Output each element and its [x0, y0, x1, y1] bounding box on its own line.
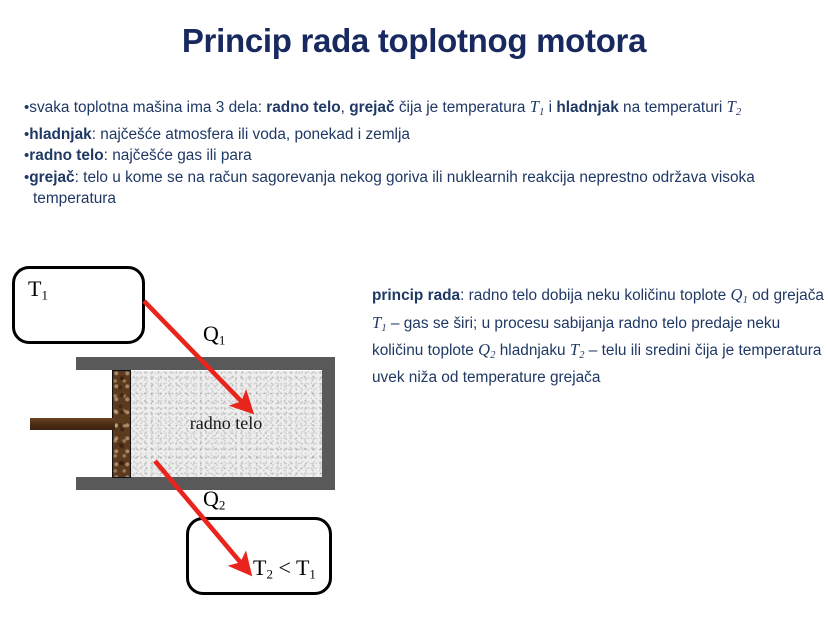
emphasis-text: radno telo	[29, 147, 103, 164]
heat-in-subscript: 1	[219, 333, 226, 348]
math-variable: Q2	[478, 340, 495, 359]
list-item: •grejač: telo u kome se na račun sagorev…	[24, 167, 808, 210]
list-item: •svaka toplotna mašina ima 3 dela: radno…	[24, 96, 808, 124]
emphasis-text: grejač	[29, 169, 74, 186]
hot-reservoir-subscript-ref: 1	[309, 567, 316, 582]
list-item-text: radno telo: najčešće gas ili para	[29, 147, 251, 164]
gas-label: radno telo	[130, 413, 322, 434]
cold-reservoir-symbol: T	[253, 555, 266, 580]
cylinder-wall-bottom	[76, 477, 335, 490]
math-variable: T1	[530, 97, 545, 116]
heat-out-label: Q2	[203, 486, 225, 514]
emphasis-text: hladnjak	[556, 99, 618, 116]
math-subscript: 1	[743, 295, 748, 306]
cold-reservoir-subscript: 2	[266, 567, 273, 582]
math-variable: Q1	[730, 285, 747, 304]
emphasis-text: hladnjak	[29, 126, 91, 143]
cylinder-wall-top	[76, 357, 335, 370]
hot-reservoir-box	[12, 266, 145, 344]
emphasis-text: grejač	[349, 99, 394, 116]
heat-in-arrow	[144, 301, 242, 402]
cold-reservoir-label: T2 < T1	[253, 555, 316, 583]
emphasis-text: radno telo	[266, 99, 340, 116]
emphasis-text: princip rada	[372, 287, 460, 304]
heat-out-subscript: 2	[219, 498, 226, 513]
hot-reservoir-symbol-ref: T	[296, 555, 309, 580]
math-subscript: 2	[579, 350, 584, 361]
math-variable: T2	[570, 340, 585, 359]
bullet-list: •svaka toplotna mašina ima 3 dela: radno…	[24, 96, 808, 210]
piston-rod	[30, 418, 115, 430]
heat-in-label: Q1	[203, 321, 225, 349]
math-subscript: 1	[539, 107, 544, 118]
hot-reservoir-subscript: 1	[41, 288, 48, 303]
list-item-text: svaka toplotna mašina ima 3 dela: radno …	[29, 99, 741, 116]
hot-reservoir-label: T1	[28, 276, 48, 304]
math-variable: T2	[727, 97, 742, 116]
math-subscript: 2	[490, 350, 495, 361]
math-subscript: 2	[736, 107, 741, 118]
piston-head	[112, 370, 131, 478]
cylinder-wall-right	[322, 357, 335, 490]
heat-in-symbol: Q	[203, 321, 219, 346]
cold-reservoir-operator: <	[273, 555, 296, 580]
princip-rada-text: princip rada: radno telo dobija neku kol…	[372, 287, 824, 386]
list-item-text: grejač: telo u kome se na račun sagoreva…	[29, 169, 755, 208]
list-item: •hladnjak: najčešće atmosfera ili voda, …	[24, 124, 808, 146]
heat-out-arrow	[155, 461, 241, 563]
math-variable: T1	[372, 313, 387, 332]
list-item-text: hladnjak: najčešće atmosfera ili voda, p…	[29, 126, 410, 143]
math-subscript: 1	[381, 323, 386, 334]
hot-reservoir-symbol: T	[28, 276, 41, 301]
heat-out-symbol: Q	[203, 486, 219, 511]
princip-rada-paragraph: princip rada: radno telo dobija neku kol…	[372, 284, 824, 388]
list-item: •radno telo: najčešće gas ili para	[24, 145, 808, 167]
cold-reservoir-box	[186, 517, 332, 595]
page-title: Princip rada toplotnog motora	[0, 22, 828, 60]
gas-chamber	[130, 371, 322, 477]
